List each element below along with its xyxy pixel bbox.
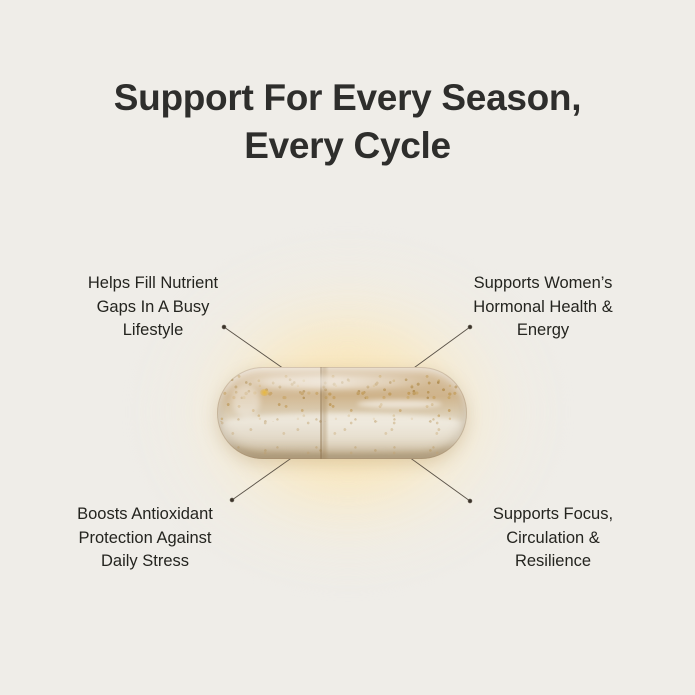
capsule-highlight-left [232, 385, 260, 416]
capsule-shell [217, 367, 467, 459]
callout-top-left: Helps Fill Nutrient Gaps In A Busy Lifes… [48, 272, 258, 343]
callout-top-right: Supports Women’s Hormonal Health & Energ… [438, 272, 648, 343]
page-title: Support For Every Season, Every Cycle [0, 74, 695, 171]
callout-bottom-right: Supports Focus, Circulation & Resilience [448, 503, 658, 574]
capsule-yellow-fleck [260, 389, 269, 396]
callout-bottom-left: Boosts Antioxidant Protection Against Da… [38, 503, 252, 574]
infographic-canvas: Support For Every Season, Every Cycle [0, 0, 695, 695]
capsule-image [217, 367, 467, 459]
capsule-highlight-top [237, 375, 437, 389]
